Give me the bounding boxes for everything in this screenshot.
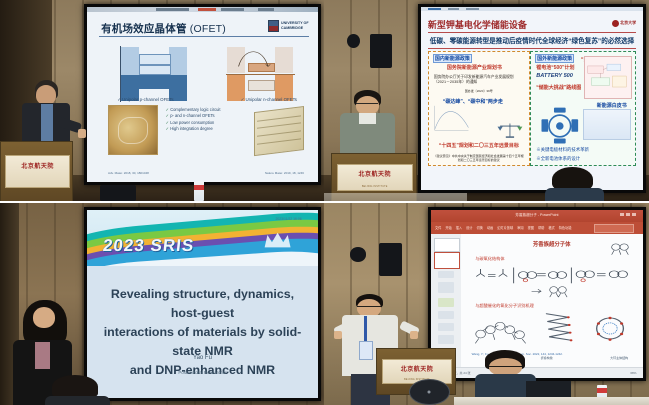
balance-scale-icon	[497, 118, 523, 143]
lectern-calligraphy: 北京航天院	[6, 161, 69, 170]
slide-thumbnail[interactable]	[434, 238, 460, 252]
pku-logo: 北京大学	[612, 20, 637, 27]
caption-n-channel: ✓ Unipolar n-channel OFETs	[241, 97, 297, 103]
reference-right: Nature Mater. 2019, 18, 1246	[265, 171, 304, 175]
domestic-red-heading: 国务院新能源产业规划书	[447, 64, 502, 71]
window-controls[interactable]	[620, 213, 636, 216]
floor-monitor	[100, 185, 136, 201]
battery500-logo-text: BATTERY 500	[536, 73, 573, 79]
cambridge-crest-icon	[268, 20, 279, 32]
ppt-toolbar-strip	[421, 7, 643, 11]
n-drain-electrode	[275, 47, 293, 73]
presenter-collar	[359, 113, 376, 124]
lectern-calligraphy: 北京航天院	[338, 169, 412, 178]
projection-screen-frame: 2023 SRIS 2023/11/22 16:06 Revealing str…	[84, 207, 321, 401]
ribbon-tab-features[interactable]: 特色功能	[559, 225, 572, 230]
ribbon-tab-format[interactable]: 格式	[548, 225, 554, 230]
top-right-molecule	[605, 242, 634, 259]
audience-head	[545, 167, 604, 201]
title-underline	[428, 32, 636, 33]
domestic-footer-body: 《建议意见》中共中央关于制定国民经济和社会发展第十四个五年规划和二〇三五年远景目…	[433, 155, 525, 163]
shape-tool-icon[interactable]	[438, 282, 455, 293]
front-desk	[324, 193, 467, 201]
cambridge-logo-text: UNIVERSITY OF CAMBRIDGE	[281, 21, 309, 29]
section-heading-1: 与碳氧化结构体	[475, 256, 504, 262]
domestic-body-text: 国务院办公厅关于印发新能源汽车产业发展规划（2021－2035年）的通知	[434, 75, 524, 85]
projection-screen-frame: 新型钾基电化学储能设备 北京大学 低碳、零碳能源转型是推动后疫情时代全球经济“绿…	[418, 4, 646, 193]
presenter-left-hand	[334, 331, 342, 340]
bullet-item: ✓ High integration degree	[166, 126, 244, 132]
audience-head	[45, 375, 110, 405]
presenter-name: Yao Fu	[87, 355, 318, 361]
projection-screen: 2023 SRIS 2023/11/22 16:06 Revealing str…	[87, 210, 318, 398]
ceiling-light	[350, 247, 366, 261]
ribbon-tab-slideshow[interactable]: 幻灯片放映	[497, 225, 513, 230]
n-substrate-line	[226, 74, 295, 75]
projection-screen: 新型钾基电化学储能设备 北京大学 低碳、零碳能源转型是推动后疫情时代全球经济“绿…	[421, 7, 643, 190]
water-bottle	[194, 181, 204, 201]
audience-shoulders	[545, 188, 604, 201]
ribbon-tab-transitions[interactable]: 切换	[477, 225, 483, 230]
table-tool-icon[interactable]	[438, 311, 455, 319]
projection-screen: 有机场效应晶体管 (OFET) UNIVERSITY OF CAMBRIDGE	[87, 7, 318, 182]
presenter-shirt	[41, 104, 53, 144]
domestic-policy-panel: 国内新能源政策 国务院新能源产业规划书 国务院办公厅关于印发新能源汽车产业发展规…	[428, 51, 530, 166]
presenter-right-hand	[410, 331, 418, 340]
foreign-bullet-2: ※全新电池体系的设计	[536, 156, 580, 162]
quadrant-top-left: 有机场效应晶体管 (OFET) UNIVERSITY OF CAMBRIDGE	[0, 0, 324, 201]
caption-p-channel: ✓ Unipolar p-channel OFETs	[117, 97, 173, 103]
title-underline	[99, 36, 309, 37]
quadrant-top-right: 新型钾基电化学储能设备 北京大学 低碳、零碳能源转型是推动后疫情时代全球经济“绿…	[324, 0, 649, 201]
ribbon-tab-review[interactable]: 审阅	[517, 225, 523, 230]
title-line-1: Revealing structure, dynamics, host-gues…	[99, 285, 306, 323]
caption-macrocycle: 大环主体结构	[610, 356, 628, 360]
ribbon-tab-home[interactable]: 开始	[445, 225, 451, 230]
presenter-role: Postdoctoral Researcher	[87, 370, 318, 375]
pku-logo-text: 北京大学	[620, 20, 636, 26]
presenter-glasses-icon	[356, 103, 378, 107]
text-tool-icon[interactable]	[438, 323, 455, 331]
projection-screen-frame: 有机场效应晶体管 (OFET) UNIVERSITY OF CAMBRIDGE	[84, 4, 321, 185]
caption-folded: 折叠构象	[541, 356, 553, 360]
reference-left: Adv. Mater. 2018, 30, 1801048	[108, 171, 149, 175]
lectern-nameplate: 北京航天院	[5, 155, 70, 188]
domestic-footer-red: “十四五”规划和二〇三五年远景目标	[439, 142, 519, 149]
cambridge-logo: UNIVERSITY OF CAMBRIDGE	[268, 20, 309, 32]
energy-tech-map-icon	[584, 56, 632, 99]
audience-desk	[454, 397, 649, 405]
feature-bullet-list: ✓ Complementary logic circuit ✓ p- and n…	[166, 107, 244, 132]
folded-conformation-structure	[541, 311, 577, 346]
quadrant-bottom-right: 芳香族超分子 - PowerPoint 文件 开始 插入 设计 切换	[324, 203, 649, 405]
minimize-icon[interactable]	[620, 213, 624, 216]
panel-header-domestic: 国内新能源政策	[433, 54, 472, 63]
ribbon-tab-file[interactable]: 文件	[435, 225, 441, 230]
toolbar-icon-group[interactable]	[438, 271, 455, 278]
p-axis-vertical	[120, 46, 121, 102]
slide-title-en: (OFET)	[190, 23, 226, 35]
ofet-slide: 有机场效应晶体管 (OFET) UNIVERSITY OF CAMBRIDGE	[87, 12, 318, 182]
audience-hair	[52, 375, 99, 399]
ribbon-tab-insert[interactable]: 插入	[456, 225, 462, 230]
p-semiconductor-layer	[139, 54, 171, 65]
macrocycle-structure-left	[470, 314, 532, 346]
presenter-head	[33, 307, 56, 328]
crystal-structure-image	[254, 106, 304, 157]
foreign-red-heading-1: 锂电池“500”计划	[536, 64, 574, 71]
desk-fan	[409, 379, 450, 405]
p-source-electrode	[121, 47, 139, 75]
tell-me-search-box[interactable]	[594, 224, 634, 233]
foreign-bullet-1: ※关键电极材料的技术革新	[536, 147, 589, 153]
lectern: 北京航天院	[0, 141, 73, 201]
sris-title-slide: 2023 SRIS 2023/11/22 16:06 Revealing str…	[87, 210, 318, 398]
picture-tool-icon[interactable]	[438, 335, 455, 343]
wall-speaker	[379, 243, 402, 275]
wall-speaker	[370, 34, 393, 68]
panel-header-foreign: 国外新能源政策	[535, 54, 574, 63]
powerpoint-title-bar: 芳香族超分子 - PowerPoint	[431, 210, 643, 222]
whitepaper-grid-icon	[583, 109, 631, 140]
cambridge-line2: CAMBRIDGE	[281, 26, 309, 30]
ribbon-tab-design[interactable]: 设计	[466, 225, 472, 230]
window-title: 芳香族超分子 - PowerPoint	[515, 213, 558, 218]
reaction-scheme-row	[472, 266, 632, 285]
presenter-head	[36, 85, 57, 105]
audience-glasses-icon	[489, 366, 522, 369]
ribbon-tab-animations[interactable]: 动画	[487, 225, 493, 230]
presenter-inner-top	[35, 342, 50, 369]
audience-shoulders	[45, 396, 110, 405]
lectern-nameplate: 北京航天院 BEIJING INSTITUTE	[337, 164, 413, 191]
slide-editing-canvas[interactable]: 芳香族超分子体 与碳氧化结构体	[461, 234, 643, 368]
status-zoom-level[interactable]: 68%	[630, 371, 636, 375]
policy-curve-chart	[434, 104, 470, 131]
foreign-red-heading-2: “储能大挑战”路线图	[536, 84, 581, 91]
p-dielectric-layer	[139, 65, 171, 75]
lectern-calligraphy: 北京航天院	[383, 364, 452, 373]
slide-title-cn: 有机场效应晶体管	[101, 23, 187, 35]
sris-banner-text: 2023 SRIS	[102, 236, 195, 256]
n-dielectric-layer	[248, 80, 275, 91]
slide-title: 新型钾基电化学储能设备	[428, 18, 527, 31]
slide-thumbnail-selected[interactable]	[434, 252, 460, 269]
device-diagram-n-channel	[226, 46, 295, 102]
presentation-title: Revealing structure, dynamics, host-gues…	[99, 285, 306, 380]
macrocycle-host-structure	[590, 311, 630, 346]
lectern-subtext: BEIJING INSTITUTE	[338, 185, 412, 188]
conference-badge	[359, 341, 373, 361]
foreign-policy-panel: 国外新能源政策 锂电池“500”计划 BATTERY 500 “储能大挑战”路线…	[530, 51, 636, 166]
slide-timestamp: 2023/11/22 16:06	[275, 217, 301, 221]
battery-network-icon	[539, 104, 581, 147]
subtitle-underline	[428, 48, 636, 49]
ribbon-tab-view[interactable]: 视图	[528, 225, 534, 230]
presenter-hand	[78, 129, 86, 137]
four-quadrant-composite: 有机场效应晶体管 (OFET) UNIVERSITY OF CAMBRIDGE	[0, 0, 649, 403]
product-structure	[530, 284, 577, 299]
maximize-icon[interactable]	[626, 213, 630, 216]
sris-banner: 2023 SRIS 2023/11/22 16:06	[87, 210, 318, 266]
p-channel-well	[139, 75, 169, 88]
ceiling-light	[347, 34, 360, 48]
ribbon-tab-help[interactable]: 帮助	[538, 225, 544, 230]
domestic-body-sub: 国办发〔2020〕39号	[429, 89, 529, 94]
p-drain-electrode	[169, 47, 187, 75]
device-photograph	[108, 105, 158, 155]
n-energy-curve-icon	[237, 46, 276, 67]
chart-tool-icon[interactable]	[438, 298, 455, 307]
section-heading-2: 与超酸催化的氧化分子识别机理	[475, 303, 534, 309]
slide-title: 有机场效应晶体管 (OFET)	[101, 21, 226, 36]
presenter-glasses-icon	[357, 306, 381, 309]
close-icon[interactable]	[632, 213, 636, 216]
lanyard-strap	[364, 316, 367, 340]
slide-subtitle: 低碳、零碳能源转型是推动后疫情时代全球经济“绿色复苏”的必然选择	[428, 35, 636, 45]
crown-graphic-icon	[258, 231, 297, 248]
device-diagram-p-channel	[120, 46, 189, 102]
pku-seal-icon	[612, 20, 619, 27]
quadrant-bottom-left: 2023 SRIS 2023/11/22 16:06 Revealing str…	[0, 203, 324, 405]
energy-storage-slide: 新型钾基电化学储能设备 北京大学 低碳、零碳能源转型是推动后疫情时代全球经济“绿…	[421, 7, 643, 190]
